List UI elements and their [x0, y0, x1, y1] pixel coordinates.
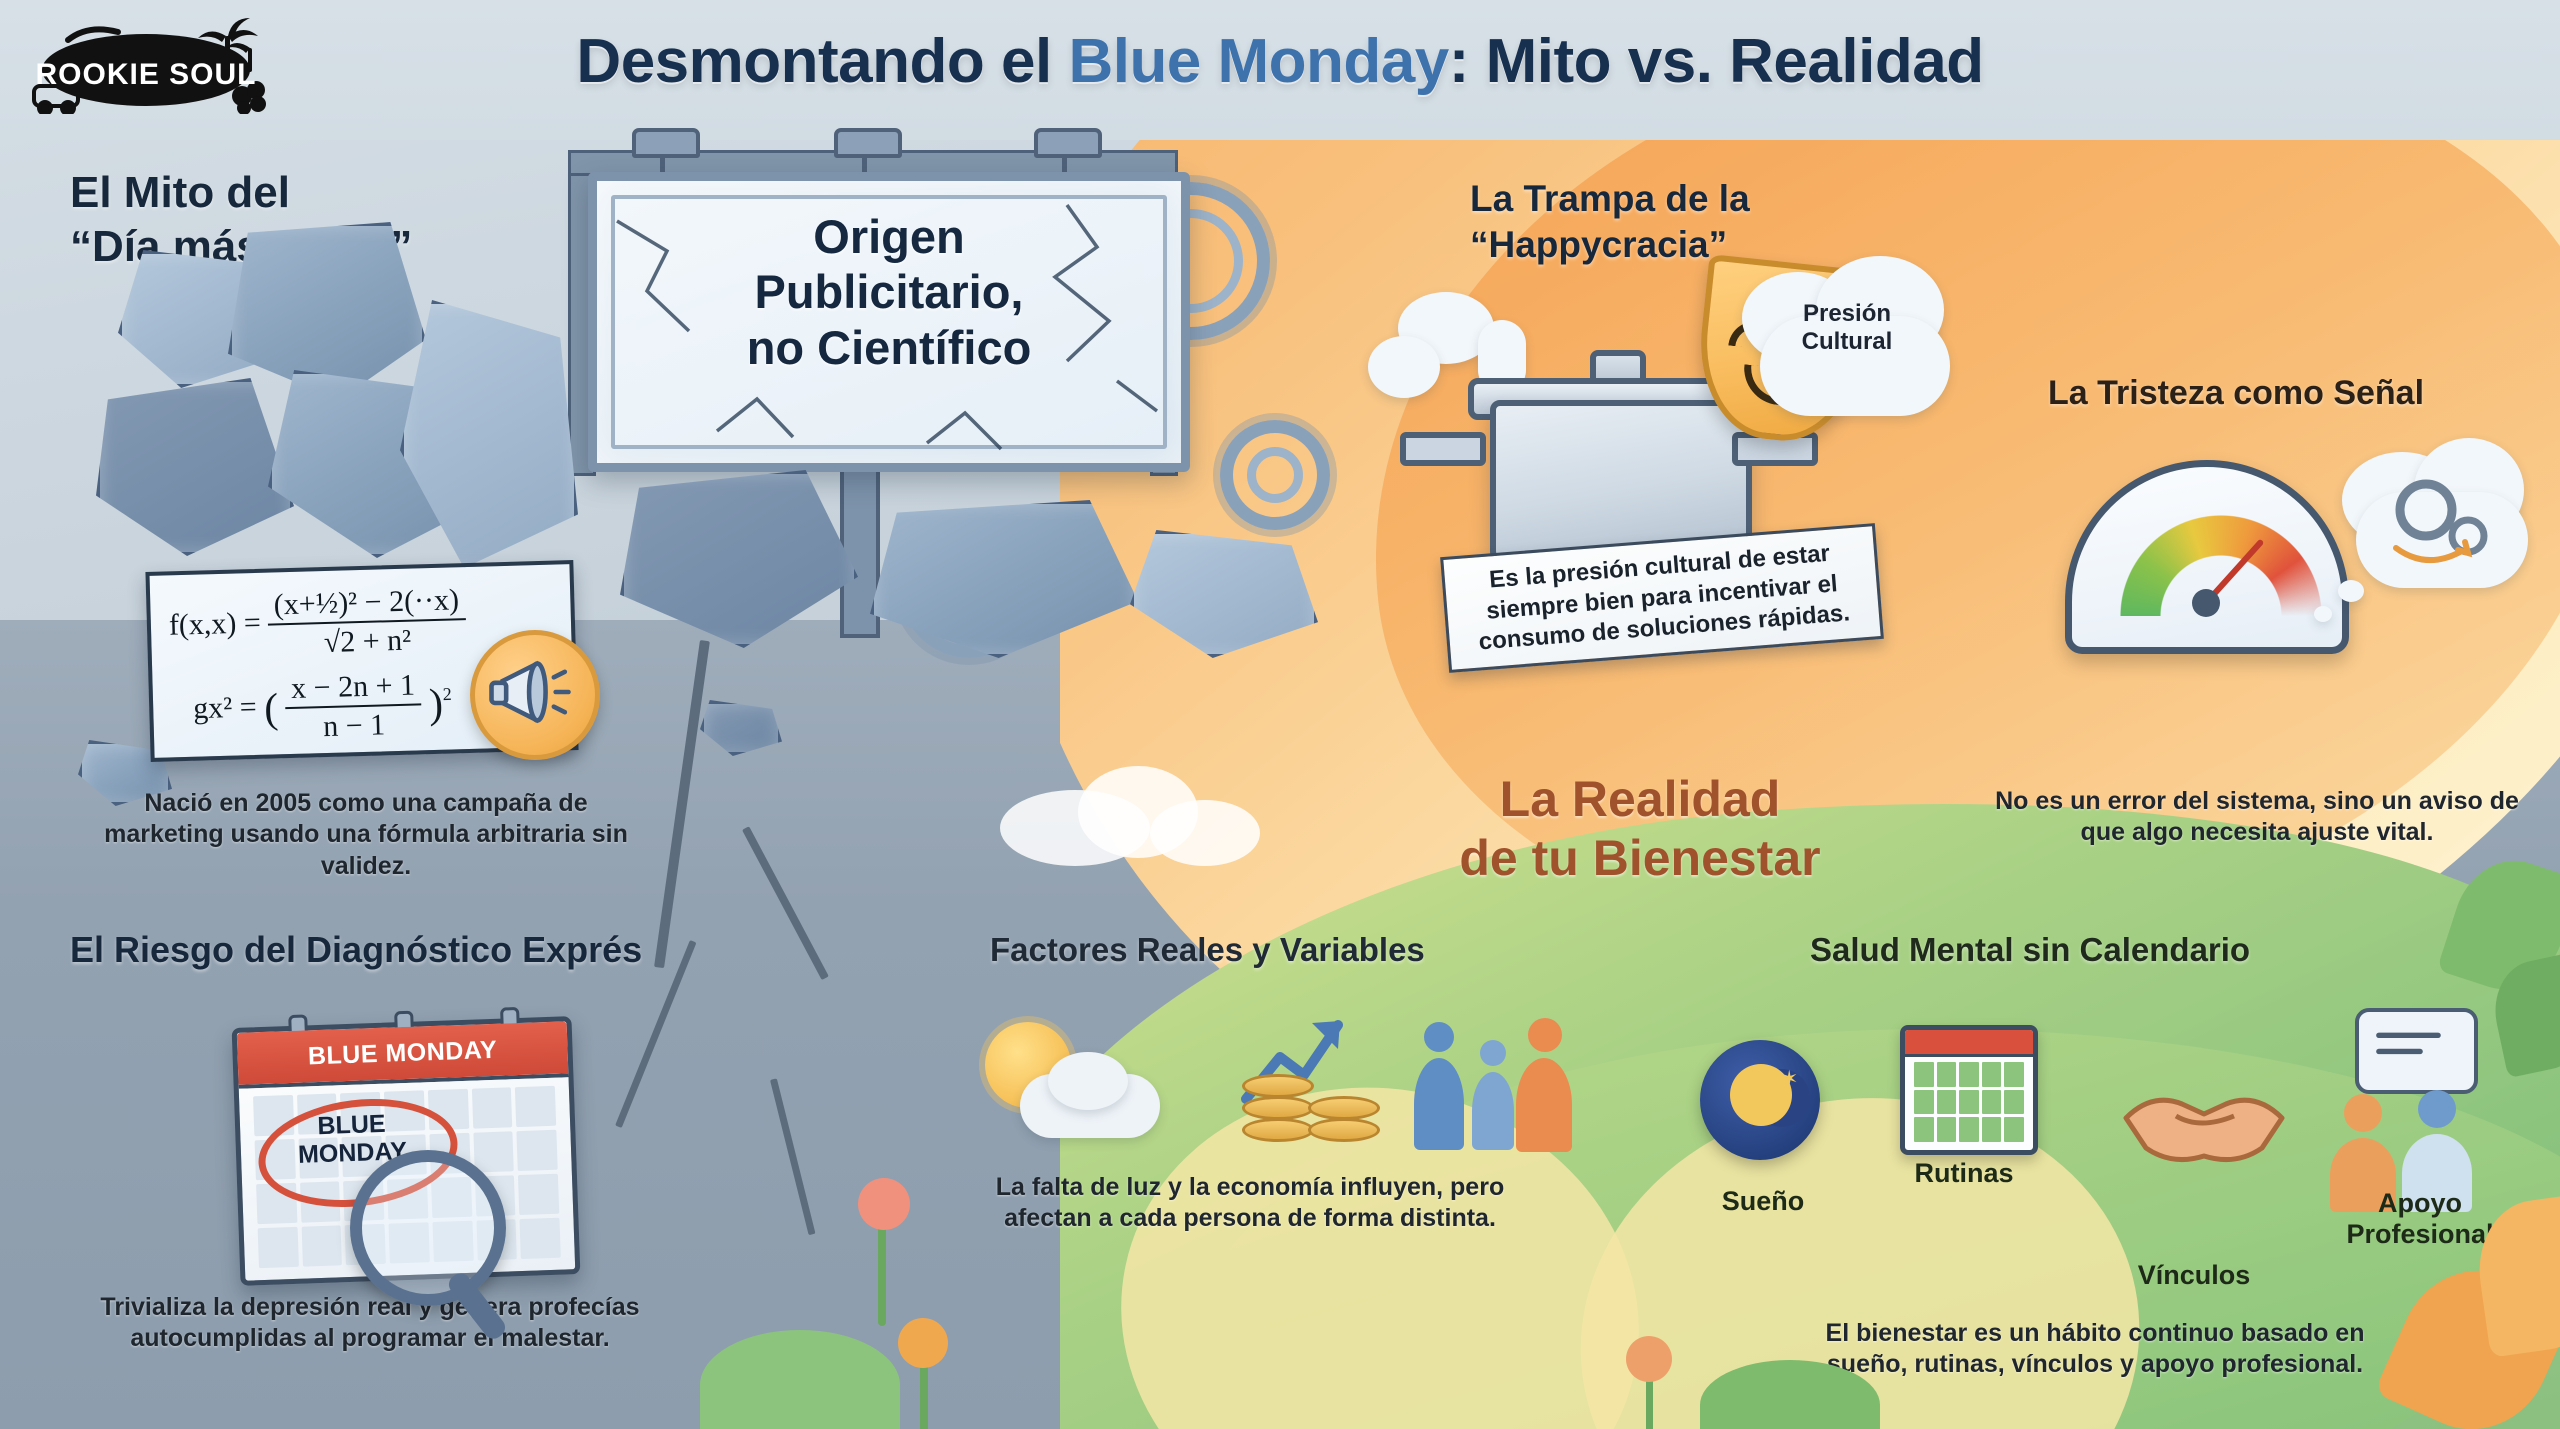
- mini-calendar-grid: [1914, 1062, 2024, 1142]
- infographic-canvas: ROOKIE SOUL Desmontando el Blue Monday: …: [0, 0, 2560, 1429]
- realidad-heading-line1: La Realidad: [1370, 770, 1910, 829]
- chat-bubble-icon: [2355, 1008, 2478, 1094]
- thought-gear-icon: [2378, 464, 2518, 574]
- flower-2-petal: [898, 1318, 948, 1368]
- diagnostico-caption: Trivializa la depresión real y genera pr…: [60, 1292, 680, 1355]
- myth-heading-line1: El Mito del: [70, 168, 290, 217]
- salud-heading: Salud Mental sin Calendario: [1810, 932, 2250, 969]
- formula-2-exponent: 2: [442, 684, 452, 704]
- billboard-panel: Origen Publicitario, no Científico: [588, 172, 1190, 472]
- salud-item-label-apoyo-line1: Apoyo: [2320, 1188, 2520, 1219]
- coin-stack-1-b: [1242, 1096, 1314, 1120]
- person-2-head: [1480, 1040, 1506, 1066]
- myth-caption: Nació en 2005 como una campaña de market…: [86, 788, 646, 882]
- formula-2-fraction: x − 2n + 1 n − 1: [285, 668, 423, 745]
- coin-stack-2-b: [1308, 1096, 1380, 1120]
- pressure-cloud-label: Presión Cultural: [1752, 300, 1942, 357]
- factores-heading: Factores Reales y Variables: [990, 932, 1425, 969]
- megaphone-icon: [470, 630, 600, 760]
- formula-1-denominator: √2 + n²: [268, 620, 466, 661]
- magnifier-icon: [350, 1150, 506, 1306]
- tristeza-caption: No es un error del sistema, sino un avis…: [1972, 786, 2542, 849]
- billboard-line-2: Publicitario,: [597, 264, 1181, 319]
- person-2-body: [1472, 1072, 1514, 1150]
- coin-stack-2-a: [1308, 1118, 1380, 1142]
- person-3-head: [1528, 1018, 1562, 1052]
- thought-cloud-dot-1: [2338, 580, 2364, 602]
- billboard-line-3: no Científico: [597, 320, 1181, 375]
- salud-caption: El bienestar es un hábito continuo basad…: [1810, 1318, 2380, 1381]
- pressure-cloud-label-line2: Cultural: [1752, 328, 1942, 356]
- formula-1-numerator: (x+½)² − 2(··x): [267, 583, 465, 625]
- billboard-text: Origen Publicitario, no Científico: [597, 209, 1181, 375]
- mini-calendar-header: [1905, 1030, 2033, 1057]
- title-part-1: Desmontando el: [576, 27, 1068, 96]
- formula-2-numerator: x − 2n + 1: [285, 668, 422, 709]
- title-part-2: : Mito vs. Realidad: [1449, 27, 1984, 96]
- handshake-icon: [2120, 1070, 2290, 1170]
- billboard-lamp-2: [834, 128, 902, 158]
- cloud-puff-3: [1150, 800, 1260, 866]
- cooker-handle-left: [1400, 432, 1486, 466]
- flower-1-petal: [858, 1178, 910, 1230]
- gauge-color-arc: [2098, 493, 2344, 616]
- cloud-icon-puff: [1048, 1052, 1128, 1110]
- billboard-line-1: Origen: [597, 209, 1181, 264]
- calendar-check-icon: [1900, 1025, 2038, 1155]
- salud-item-label-rutinas: Rutinas: [1884, 1158, 2044, 1189]
- support-professional-head: [2418, 1090, 2456, 1128]
- steam-puff-2: [1368, 336, 1440, 398]
- bush-decor-1: [700, 1330, 900, 1429]
- flower-3-petal: [1626, 1336, 1672, 1382]
- realidad-heading: La Realidad de tu Bienestar: [1370, 770, 1910, 888]
- tristeza-heading: La Tristeza como Señal: [2048, 374, 2424, 412]
- person-1-body: [1414, 1058, 1464, 1150]
- gauge-needle-hub: [2192, 589, 2220, 617]
- title-highlight: Blue Monday: [1068, 27, 1448, 96]
- factores-caption: La falta de luz y la economía influyen, …: [960, 1172, 1540, 1235]
- moon-star-icon: ✶: [1700, 1040, 1820, 1160]
- realidad-heading-line2: de tu Bienestar: [1370, 829, 1910, 888]
- billboard-lamp-3: [1034, 128, 1102, 158]
- formula-2-lhs: gx² =: [193, 690, 257, 725]
- star-shape: ✶: [1780, 1066, 1798, 1092]
- coin-stack-1-a: [1242, 1118, 1314, 1142]
- support-person-head: [2344, 1094, 2382, 1132]
- salud-item-label-sueno: Sueño: [1688, 1186, 1838, 1217]
- coin-stack-1-c: [1242, 1074, 1314, 1098]
- formula-2-denominator: n − 1: [286, 705, 423, 745]
- person-1-head: [1424, 1022, 1454, 1052]
- gear-icon-small: [1220, 420, 1330, 530]
- page-title: Desmontando el Blue Monday: Mito vs. Rea…: [0, 26, 2560, 97]
- formula-1-lhs: f(x,x) =: [168, 606, 261, 642]
- diagnostico-heading: El Riesgo del Diagnóstico Exprés: [70, 930, 642, 970]
- happycracia-heading-line2: “Happycracia”: [1470, 224, 1727, 265]
- formula-1-fraction: (x+½)² − 2(··x) √2 + n²: [267, 583, 466, 661]
- billboard-lamp-1: [632, 128, 700, 158]
- calendar-header: BLUE MONDAY: [237, 1021, 569, 1088]
- person-3-body: [1516, 1058, 1572, 1152]
- thought-cloud-dot-2: [2314, 606, 2332, 622]
- pressure-cloud-label-line1: Presión: [1752, 300, 1942, 328]
- salud-item-label-vinculos: Vínculos: [2104, 1260, 2284, 1291]
- happycracia-heading-line1: La Trampa de la: [1470, 178, 1750, 219]
